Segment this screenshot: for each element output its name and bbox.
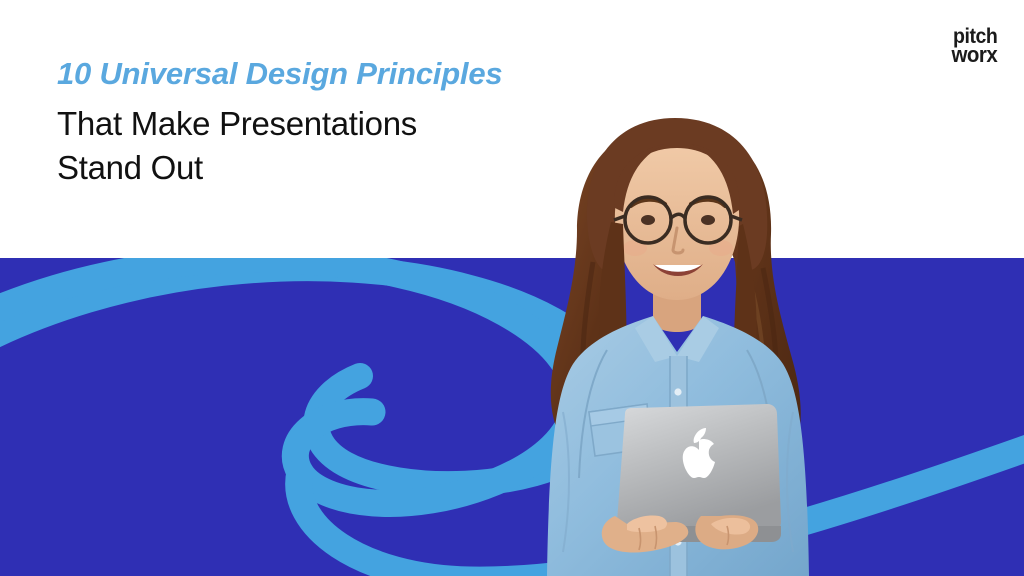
headline-main: That Make Presentations Stand Out <box>57 102 617 190</box>
pitchworx-logo: pitch worx <box>948 28 997 65</box>
headline-line-2: Stand Out <box>57 146 617 190</box>
headline-line-1: That Make Presentations <box>57 102 617 146</box>
headline-block: 10 Universal Design Principles That Make… <box>57 54 617 190</box>
logo-bottom-text: worx <box>951 46 997 65</box>
wave-decoration-layer <box>0 258 1024 576</box>
headline-accent-line: 10 Universal Design Principles <box>57 54 617 94</box>
blue-s-curve-wave <box>0 258 1024 576</box>
presentation-slide: 10 Universal Design Principles That Make… <box>0 0 1024 576</box>
